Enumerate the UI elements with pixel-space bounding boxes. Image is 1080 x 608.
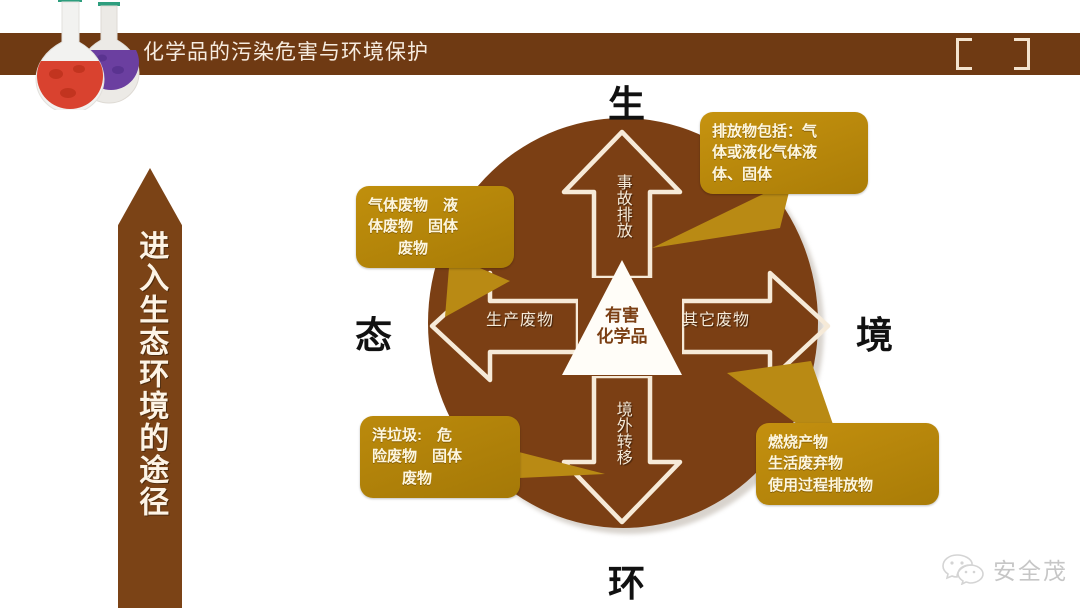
callout-top-right: 排放物包括：气 体或液化气体液 体、固体: [700, 112, 868, 194]
center-label-line1: 有害: [562, 306, 682, 327]
callout-line: 废物: [368, 238, 502, 259]
arrow-up-label: 事故排放: [613, 174, 630, 238]
arrow-down-label: 境外转移: [613, 401, 630, 465]
callout-line: 废物: [372, 468, 508, 489]
callout-line: 使用过程排放物: [768, 475, 927, 496]
left-direction-arrow: 进入生态环境的途径: [118, 168, 182, 608]
compass-char-right: 境: [856, 305, 893, 359]
callout-line: 体或液化气体液: [712, 142, 856, 163]
callout-bottom-left: 洋垃圾: 危 险废物 固体 废物: [360, 416, 520, 498]
callout-line: 生活废弃物: [768, 453, 927, 474]
center-label: 有害 化学品: [562, 306, 682, 347]
callout-top-left: 气体废物 液 体废物 固体 废物: [356, 186, 514, 268]
center-triangle: 有害 化学品: [562, 260, 682, 375]
callout-line: 燃烧产物: [768, 432, 927, 453]
callout-line: 排放物包括：气: [712, 121, 856, 142]
header-brackets: [938, 36, 1048, 72]
bracket-left-icon: [956, 38, 972, 70]
callout-line: 洋垃圾: 危: [372, 425, 508, 446]
two-flasks-icon: [22, 0, 152, 110]
callout-line: 气体废物 液: [368, 195, 502, 216]
watermark-text: 安全茂: [993, 552, 1068, 586]
callout-line: 险废物 固体: [372, 446, 508, 467]
compass-char-top: 生: [608, 74, 645, 128]
callout-line: 体、固体: [712, 164, 856, 185]
left-arrow-label: 进入生态环境的途径: [132, 230, 169, 518]
compass-char-left: 态: [355, 305, 392, 359]
watermark: 安全茂: [942, 552, 1068, 586]
center-label-line2: 化学品: [562, 327, 682, 348]
callout-line: 体废物 固体: [368, 216, 502, 237]
compass-char-bottom: 环: [608, 553, 645, 607]
wechat-icon: [942, 553, 984, 585]
callout-bottom-right: 燃烧产物 生活废弃物 使用过程排放物: [756, 423, 939, 505]
arrow-right-label: 其它废物: [682, 306, 750, 330]
page-title: 化学品的污染危害与环境保护: [143, 36, 429, 66]
bracket-right-icon: [1014, 38, 1030, 70]
callout-pointer-top-right: [650, 180, 800, 275]
